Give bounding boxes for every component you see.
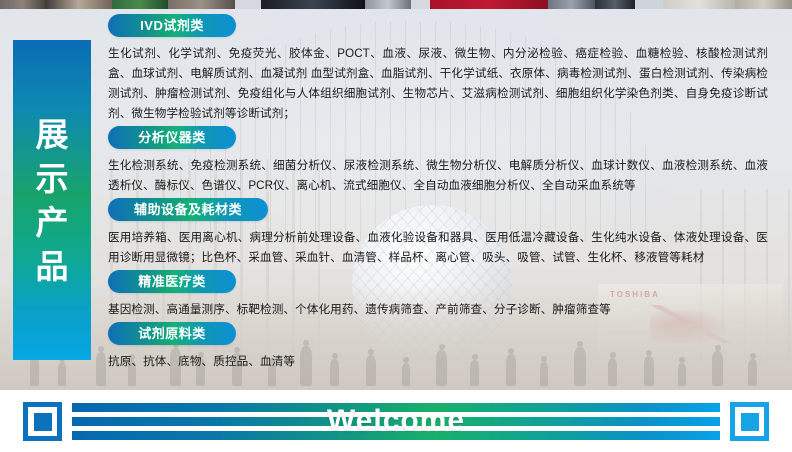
top-photo-strip (0, 0, 792, 9)
side-title-char-4: 品 (36, 250, 69, 283)
side-title-char-3: 产 (36, 206, 69, 239)
category-body-reagent-raw-materials: 抗原、抗体、底物、质控品、血清等 (108, 352, 768, 372)
side-title-char-2: 示 (36, 162, 69, 195)
product-category-list: IVD试剂类 生化试剂、化学试剂、免疫荧光、胶体金、POCT、血液、尿液、微生物… (108, 14, 780, 374)
section-title-panel: 展 示 产 品 (13, 40, 91, 360)
category-pill-ivd[interactable]: IVD试剂类 (108, 14, 236, 37)
welcome-gradient-bars (72, 403, 720, 440)
category-section-precision-medicine: 精准医疗类 基因检测、高通量测序、标靶检测、个体化用药、遗传病筛查、产前筛查、分… (108, 270, 780, 320)
category-body-analytical-instruments: 生化检测系统、免疫检测系统、细菌分析仪、尿液检测系统、微生物分析仪、电解质分析仪… (108, 156, 768, 196)
category-pill-reagent-raw-materials[interactable]: 试剂原料类 (108, 322, 236, 345)
concentric-square-icon-left (23, 402, 62, 441)
gradient-bar-3 (72, 431, 720, 440)
welcome-banner: Welcome (0, 390, 792, 452)
category-section-ivd: IVD试剂类 生化试剂、化学试剂、免疫荧光、胶体金、POCT、血液、尿液、微生物… (108, 14, 780, 124)
category-pill-analytical-instruments[interactable]: 分析仪器类 (108, 126, 236, 149)
category-section-reagent-raw-materials: 试剂原料类 抗原、抗体、底物、质控品、血清等 (108, 322, 780, 372)
slide-canvas: TOSHIBA 展 (0, 0, 792, 452)
category-section-analytical-instruments: 分析仪器类 生化检测系统、免疫检测系统、细菌分析仪、尿液检测系统、微生物分析仪、… (108, 126, 780, 196)
side-title-char-1: 展 (36, 118, 69, 151)
category-body-auxiliary-equipment: 医用培养箱、医用离心机、病理分析前处理设备、血液化验设备和器具、医用低温冷藏设备… (108, 228, 768, 268)
concentric-square-icon-right (730, 402, 769, 441)
category-pill-precision-medicine[interactable]: 精准医疗类 (108, 270, 236, 293)
category-pill-auxiliary-equipment[interactable]: 辅助设备及耗材类 (108, 198, 268, 221)
category-body-ivd: 生化试剂、化学试剂、免疫荧光、胶体金、POCT、血液、尿液、微生物、内分泌检验、… (108, 44, 768, 124)
gradient-bar-1 (72, 403, 720, 412)
category-section-auxiliary-equipment: 辅助设备及耗材类 医用培养箱、医用离心机、病理分析前处理设备、血液化验设备和器具… (108, 198, 780, 268)
gradient-bar-2 (72, 417, 720, 426)
category-body-precision-medicine: 基因检测、高通量测序、标靶检测、个体化用药、遗传病筛查、产前筛查、分子诊断、肿瘤… (108, 300, 768, 320)
